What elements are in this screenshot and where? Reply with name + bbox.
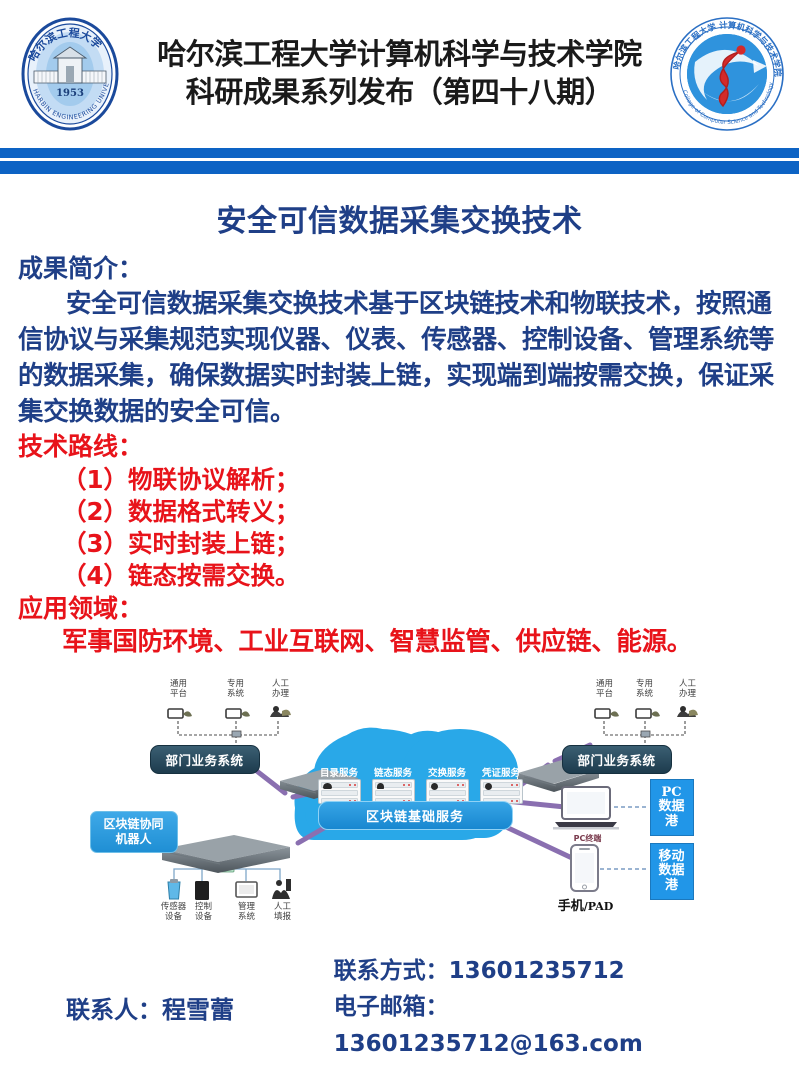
route-list: （1）物联协议解析； （2）数据格式转义； （3）实时封装上链； （4）链态按需…	[18, 464, 781, 591]
source-device-glyphs-left	[168, 706, 291, 718]
label-dedicated-system-right: 专用系统	[624, 679, 666, 699]
route-item: （2）数据格式转义；	[18, 496, 781, 528]
label-dedicated-system-left: 专用系统	[215, 679, 257, 699]
cloud-service-credential: 凭证服务	[480, 765, 523, 804]
intro-heading: 成果简介：	[18, 253, 781, 286]
label-manual-report: 人工填报	[264, 902, 302, 922]
label-management-system: 管理系统	[228, 902, 266, 922]
page-header: 1953 HARBIN ENGINEERING UNIVERSITY 哈尔滨工程…	[0, 0, 799, 148]
cloud-service-exchange: 交换服务	[426, 765, 469, 804]
contact-person-label: 联系人：	[66, 996, 162, 1024]
application-heading: 应用领域：	[18, 592, 781, 625]
main-content: 安全可信数据采集交换技术 成果简介： 安全可信数据采集交换技术基于区块链技术和物…	[0, 196, 799, 1062]
label-manual-handling-left: 人工办理	[260, 679, 302, 699]
contact-person: 联系人：程雪蕾	[48, 990, 334, 1025]
source-device-glyphs-right	[595, 706, 698, 718]
smartphone-icon	[571, 845, 598, 891]
blockchain-base-service-bar: 区块链基础服务	[318, 801, 513, 830]
phone-caption-sub: /PAD	[584, 900, 614, 913]
phone-caption: 手机/PAD	[550, 895, 622, 914]
intro-body: 安全可信数据采集交换技术基于区块链技术和物联技术，按照通信协议与采集规范实现仪器…	[18, 286, 781, 431]
dept-business-system-box-left: 部门业务系统	[150, 745, 260, 774]
cloud-service-label: 目录服务	[318, 765, 361, 779]
label-control-device: 控制设备	[185, 902, 223, 922]
route-heading: 技术路线：	[18, 430, 781, 463]
contact-person-value: 程雪蕾	[162, 996, 234, 1024]
contact-email-value: 13601235712@163.com	[334, 1031, 643, 1057]
header-title-block: 哈尔滨工程大学计算机科学与技术学院 科研成果系列发布（第四十八期）	[47, 36, 752, 111]
phone-caption-main: 手机	[558, 899, 584, 914]
mobile-data-port-box: 移动数据港	[650, 843, 694, 901]
architecture-diagram: 通用平台 专用系统 人工办理 部门业务系统 通用平台 专用系统 人工办理 部门业…	[50, 673, 750, 943]
college-of-computer-science-seal-icon: 哈尔滨工程大学 计算机科学与技术学院 College of Computer S…	[665, 14, 789, 134]
contact-email-label: 电子邮箱：	[334, 994, 449, 1020]
left-hub	[232, 731, 241, 737]
contact-phone-row: 联系方式：13601235712	[334, 953, 751, 989]
network-switch-bottom-left	[162, 835, 290, 873]
header-divider-bar	[0, 148, 799, 174]
cloud-service-label: 链态服务	[372, 765, 415, 779]
route-item: （4）链态按需交换。	[18, 560, 781, 592]
cloud-service-label: 凭证服务	[480, 765, 523, 779]
seal-year: 1953	[56, 88, 84, 99]
route-item: （1）物联协议解析；	[18, 464, 781, 496]
cloud-service-label: 交换服务	[426, 765, 469, 779]
blockchain-robot-box: 区块链协同机器人	[90, 811, 178, 853]
contact-details: 联系方式：13601235712 电子邮箱：13601235712@163.co…	[334, 953, 751, 1062]
pc-data-port-box: PC数据港	[650, 779, 694, 837]
header-title-line-1: 哈尔滨工程大学计算机科学与技术学院	[157, 36, 642, 74]
label-general-platform-right: 通用平台	[584, 679, 626, 699]
page-title: 安全可信数据采集交换技术	[18, 196, 781, 240]
laptop-icon	[553, 787, 619, 830]
cloud-service-chainstate: 链态服务	[372, 765, 415, 804]
contact-phone-label: 联系方式：	[334, 958, 449, 984]
cloud-service-directory: 目录服务	[318, 765, 361, 804]
application-body: 军事国防环境、工业互联网、智慧监管、供应链、能源。	[18, 625, 781, 659]
harbin-engineering-university-seal-icon: 1953 HARBIN ENGINEERING UNIVERSITY 哈尔滨工程…	[14, 16, 126, 132]
contact-phone-value: 13601235712	[449, 958, 625, 984]
header-title-line-2: 科研成果系列发布（第四十八期）	[157, 74, 642, 112]
bottom-device-glyphs	[168, 879, 291, 900]
dept-business-system-box-right: 部门业务系统	[562, 745, 672, 774]
left-source-wires	[178, 721, 278, 745]
contact-email-row: 电子邮箱：13601235712@163.com	[334, 989, 751, 1062]
route-item: （3）实时封装上链；	[18, 528, 781, 560]
label-manual-handling-right: 人工办理	[667, 679, 709, 699]
label-general-platform-left: 通用平台	[158, 679, 200, 699]
right-hub	[641, 731, 650, 737]
pc-terminal-caption: PC终端	[558, 833, 618, 844]
contact-footer: 联系人：程雪蕾 联系方式：13601235712 电子邮箱：1360123571…	[18, 953, 781, 1062]
